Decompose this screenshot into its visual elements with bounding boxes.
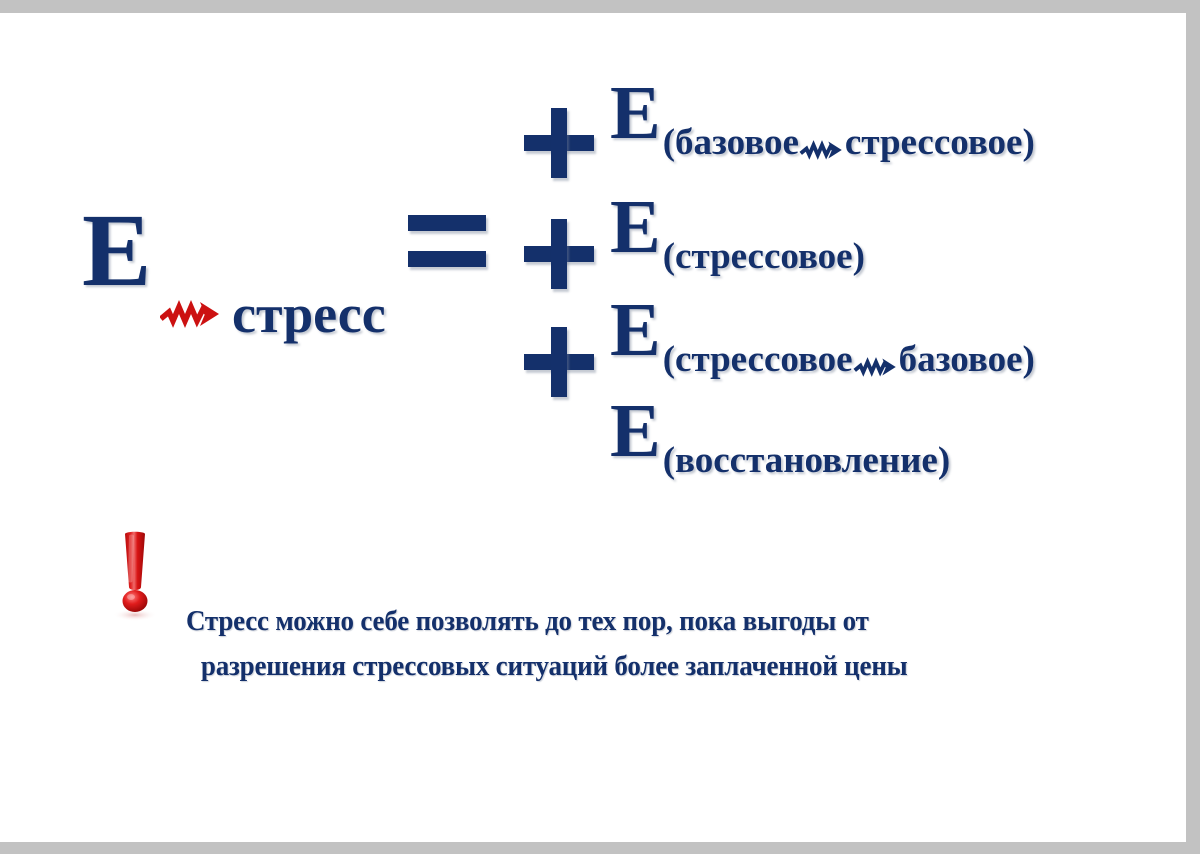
note-caption: Стресс можно себе позволять до тех пор, … bbox=[186, 599, 1023, 689]
equation-left-hand-side: E стресс bbox=[60, 199, 420, 359]
term-1-energy-symbol: E bbox=[610, 71, 661, 155]
lhs-subscript-group: стресс bbox=[160, 287, 386, 341]
equals-sign bbox=[408, 211, 486, 273]
term-3-energy-symbol: E bbox=[610, 288, 661, 372]
navy-zigzag-arrow-icon bbox=[799, 138, 845, 162]
equation-term-2: E(стрессовое) bbox=[610, 189, 863, 265]
lhs-subscript-label: стресс bbox=[232, 287, 386, 341]
equals-bar-bottom bbox=[408, 251, 486, 267]
plus-sign-2 bbox=[524, 219, 594, 289]
term-4-label: (восстановление) bbox=[663, 440, 950, 481]
plus-sign-3 bbox=[524, 327, 594, 397]
term-4-energy-symbol: E bbox=[610, 389, 661, 473]
equation-term-1: E(базовое стрессовое) bbox=[610, 75, 1033, 151]
term-1-label-open: (базовое bbox=[663, 122, 799, 163]
equals-bar-top bbox=[408, 215, 486, 231]
note-caption-line-1: Стресс можно себе позволять до тех пор, … bbox=[186, 599, 1023, 644]
term-1-label-close: стрессовое) bbox=[845, 122, 1035, 163]
equation-term-4: E(восстановление) bbox=[610, 393, 948, 469]
plus-bar-vertical bbox=[551, 108, 567, 178]
equation-term-3: E(стрессовое базовое) bbox=[610, 292, 1033, 368]
red-exclamation-mark-icon bbox=[112, 529, 158, 621]
term-3-label-open: (стрессовое bbox=[663, 339, 853, 380]
plus-sign-1 bbox=[524, 108, 594, 178]
lhs-energy-symbol: E bbox=[82, 199, 151, 303]
red-zigzag-arrow-icon bbox=[160, 297, 222, 331]
term-2-label: (стрессовое) bbox=[663, 236, 865, 277]
note-caption-line-2: разрешения стрессовых ситуаций более зап… bbox=[186, 644, 1023, 689]
slide-canvas: E стресс E(базовое bbox=[0, 0, 1200, 854]
navy-zigzag-arrow-icon bbox=[853, 355, 899, 379]
plus-bar-vertical bbox=[551, 327, 567, 397]
term-3-label-close: базовое) bbox=[899, 339, 1035, 380]
term-2-energy-symbol: E bbox=[610, 185, 661, 269]
plus-bar-vertical bbox=[551, 219, 567, 289]
